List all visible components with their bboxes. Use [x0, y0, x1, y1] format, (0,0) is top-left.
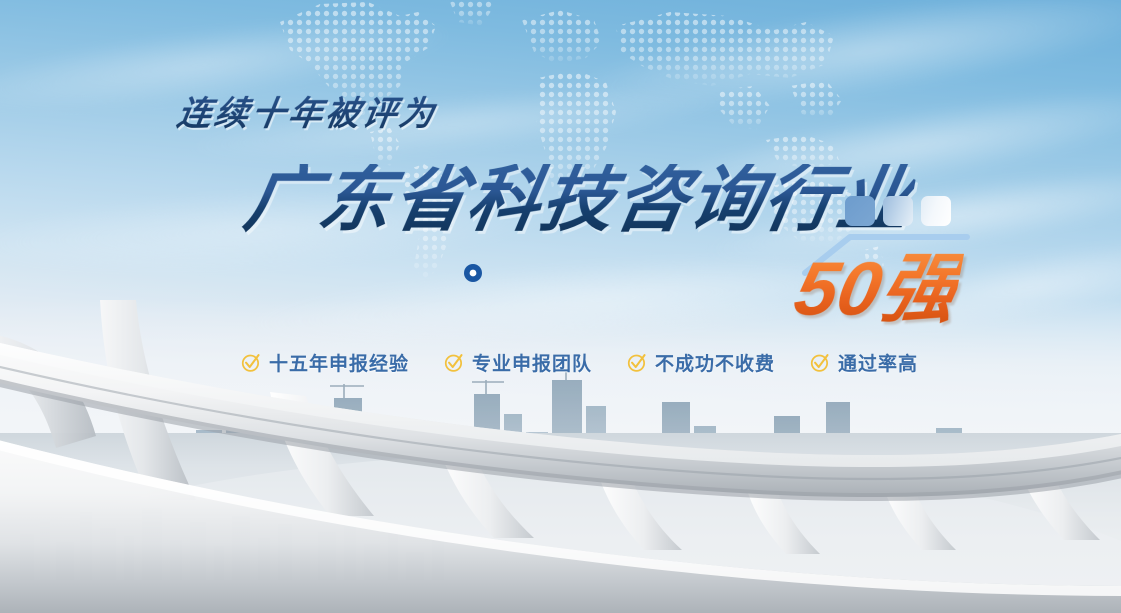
feature-label: 专业申报团队	[472, 349, 592, 376]
feature-item: 不成功不收费	[626, 349, 775, 376]
skyline-reflection	[0, 500, 480, 580]
square-mid-blue	[883, 196, 913, 226]
decor-squares	[845, 196, 951, 226]
square-solid-blue	[845, 196, 875, 226]
award-number: 50强	[789, 252, 964, 328]
feature-item: 十五年申报经验	[240, 349, 409, 376]
feature-item: 通过率高	[809, 349, 918, 376]
feature-label: 不成功不收费	[655, 349, 775, 376]
check-circle-icon	[626, 352, 648, 374]
feature-item: 专业申报团队	[443, 349, 592, 376]
square-white	[921, 196, 951, 226]
feature-label: 十五年申报经验	[269, 349, 409, 376]
promo-banner: 连续十年被评为 广东省科技咨询行业 50强	[0, 0, 1121, 613]
check-circle-icon	[240, 352, 262, 374]
feature-list: 十五年申报经验 专业申报团队 不成功不收费	[240, 349, 918, 376]
check-circle-icon	[443, 352, 465, 374]
feature-label: 通过率高	[838, 349, 918, 376]
check-circle-icon	[809, 352, 831, 374]
kicker-text: 连续十年被评为	[174, 86, 441, 135]
